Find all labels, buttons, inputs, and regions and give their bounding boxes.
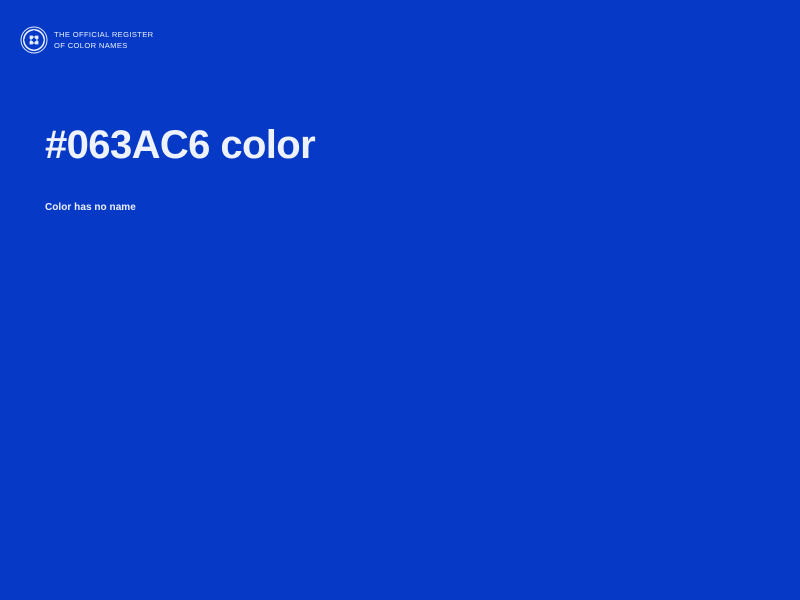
- brand-line-2: OF COLOR NAMES: [54, 41, 153, 51]
- page-title: #063AC6 color: [45, 120, 745, 170]
- brand-header[interactable]: THE OFFICIAL REGISTER OF COLOR NAMES: [20, 26, 153, 54]
- brand-wordmark: THE OFFICIAL REGISTER OF COLOR NAMES: [54, 29, 153, 51]
- color-name-status: Color has no name: [45, 170, 745, 215]
- color-page: THE OFFICIAL REGISTER OF COLOR NAMES #06…: [0, 0, 800, 600]
- color-info-block: #063AC6 color Color has no name: [45, 120, 745, 215]
- brand-line-1: THE OFFICIAL REGISTER: [54, 30, 153, 40]
- official-register-seal-icon: [20, 26, 48, 54]
